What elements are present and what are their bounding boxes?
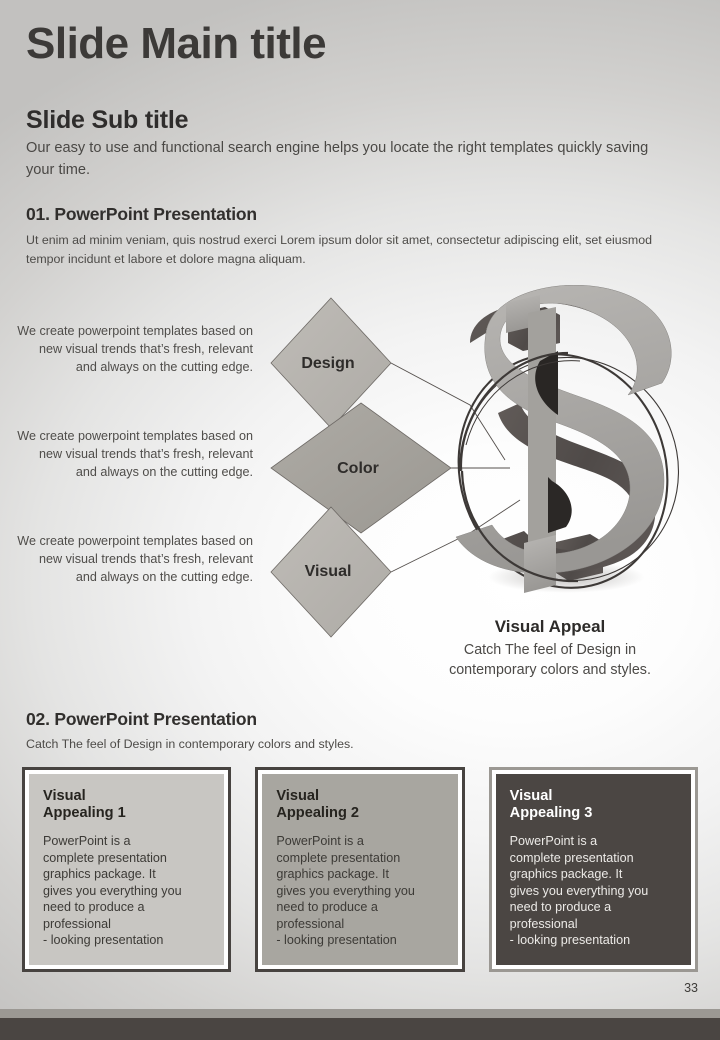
page-number: 33 bbox=[684, 981, 698, 995]
card-inner: Visual Appealing 2 PowerPoint is a compl… bbox=[262, 774, 457, 965]
card-visual-appealing-3[interactable]: Visual Appealing 3 PowerPoint is a compl… bbox=[489, 767, 698, 972]
section-02-body: Catch The feel of Design in contemporary… bbox=[26, 735, 666, 754]
card-list: Visual Appealing 1 PowerPoint is a compl… bbox=[22, 767, 698, 972]
diamond-label-visual: Visual bbox=[268, 563, 388, 581]
card-title: Visual Appealing 1 bbox=[43, 788, 212, 822]
diamond-label-color: Color bbox=[298, 460, 418, 478]
page-title: Slide Main title bbox=[26, 20, 326, 68]
footer-bar-light bbox=[0, 1009, 720, 1018]
section-01-heading: 01. PowerPoint Presentation bbox=[26, 204, 257, 225]
diagram-region: We create powerpoint templates based on … bbox=[0, 285, 720, 685]
graphic-caption-title: Visual Appeal bbox=[420, 617, 680, 637]
footer-bar-dark bbox=[0, 1018, 720, 1040]
bullet-text-visual: We create powerpoint templates based on … bbox=[17, 533, 253, 587]
card-title: Visual Appealing 3 bbox=[510, 788, 679, 822]
graphic-caption-body: Catch The feel of Design in contemporary… bbox=[420, 640, 680, 681]
section-01-body: Ut enim ad minim veniam, quis nostrud ex… bbox=[26, 231, 678, 269]
section-02-heading: 02. PowerPoint Presentation bbox=[26, 709, 257, 730]
diamond-label-design: Design bbox=[268, 355, 388, 373]
intro-paragraph: Our easy to use and functional search en… bbox=[26, 138, 656, 181]
card-body: PowerPoint is a complete presentation gr… bbox=[43, 833, 212, 948]
page-subtitle: Slide Sub title bbox=[26, 106, 188, 135]
bullet-text-design: We create powerpoint templates based on … bbox=[17, 323, 253, 377]
card-body: PowerPoint is a complete presentation gr… bbox=[510, 833, 679, 948]
card-visual-appealing-1[interactable]: Visual Appealing 1 PowerPoint is a compl… bbox=[22, 767, 231, 972]
card-body: PowerPoint is a complete presentation gr… bbox=[276, 833, 445, 948]
card-inner: Visual Appealing 3 PowerPoint is a compl… bbox=[496, 774, 691, 965]
dollar-sign-3d-icon bbox=[456, 285, 671, 593]
card-title: Visual Appealing 2 bbox=[276, 788, 445, 822]
bullet-text-color: We create powerpoint templates based on … bbox=[17, 428, 253, 482]
card-inner: Visual Appealing 1 PowerPoint is a compl… bbox=[29, 774, 224, 965]
card-visual-appealing-2[interactable]: Visual Appealing 2 PowerPoint is a compl… bbox=[255, 767, 464, 972]
slide-canvas: Slide Main title Slide Sub title Our eas… bbox=[0, 0, 720, 1040]
